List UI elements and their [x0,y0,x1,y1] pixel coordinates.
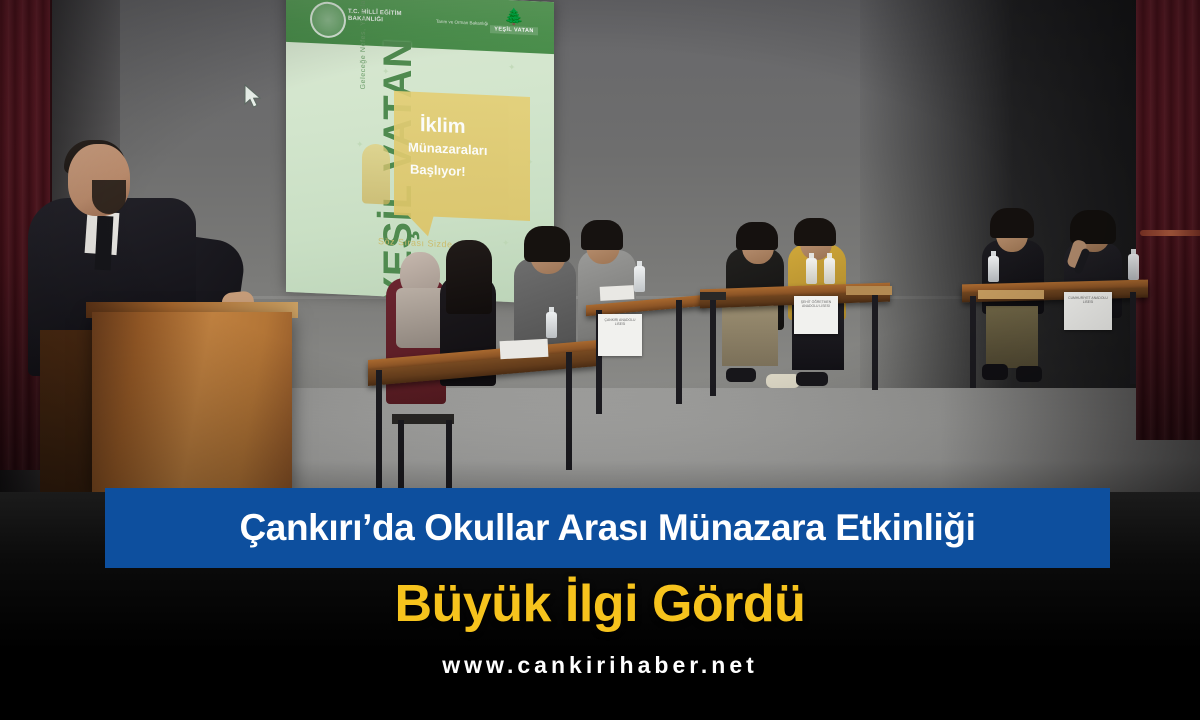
speaker-tie [95,216,114,271]
podium-side-panel [40,330,98,492]
poster-vertical-subtitle: Geleceğe Nefes, Yarınlara Yeşil Bir Vata… [360,0,367,90]
student-shoe [982,364,1008,380]
news-photo-card: T.C. MİLLÎ EĞİTİM BAKANLIĞI Tarım ve Orm… [0,0,1200,720]
student-hair [446,240,492,314]
headline-line-2: Büyük İlgi Gördü [395,575,806,633]
yesil-vatan-logo-text: YEŞİL VATAN [490,25,538,35]
water-bottle [988,256,999,282]
partner-name: Tarım ve Orman Bakanlığı [436,19,498,34]
desk-leg [566,352,572,470]
desk-leg [710,300,716,396]
desk-leg [676,300,682,404]
water-bottle [1128,254,1139,280]
water-bottle [806,258,817,284]
water-bottle [824,258,835,284]
student-hair [736,222,778,250]
student-hair [794,218,836,246]
team-name-card: ŞEHİT ÖĞRETMEN ANADOLU LİSESİ [794,296,838,334]
chair-leg [446,420,452,490]
documents [600,285,635,301]
student-hair [581,220,623,250]
stage-curtain-right [1136,0,1200,440]
desk-leg [1130,292,1136,384]
event-photograph: T.C. MİLLÎ EĞİTİM BAKANLIĞI Tarım ve Orm… [0,0,1200,492]
student-shoe [1016,366,1042,382]
microphone-illustration [362,143,390,204]
headline-secondary: Büyük İlgi Gördü [0,574,1200,634]
site-url-text: www.cankirihaber.net [442,652,758,678]
speaker-podium [92,312,292,492]
documents [500,339,549,359]
water-bottle [634,266,645,292]
headline-primary-bar: Çankırı’da Okullar Arası Münazara Etkinl… [105,488,1110,568]
team-name-card: ÇANKIRI ANADOLU LİSESİ [598,314,642,356]
bubble-line-1: İklim [420,114,466,139]
chair-seat [978,290,1044,299]
student-trousers [722,300,778,366]
student-hair [524,226,570,262]
student-shoe [766,374,800,388]
curtain-tieback [1140,230,1200,236]
desk-leg [970,296,976,388]
headline-line-1: Çankırı’da Okullar Arası Münazara Etkinl… [239,507,975,549]
student-scarf-drape [396,288,446,348]
headline-block: Çankırı’da Okullar Arası Münazara Etkinl… [0,492,1200,720]
student-trousers [986,306,1038,368]
team-name-card: CUMHURİYET ANADOLU LİSESİ [1064,292,1112,330]
chair-seat [846,286,892,295]
yesil-vatan-logo: 🌲 YEŞİL VATAN [490,9,538,45]
chair-seat [700,292,726,300]
bubble-line-3: Başlıyor! [410,162,466,180]
bubble-line-2: Münazaraları [408,139,487,158]
chair-leg [398,420,404,490]
desk-leg [872,294,878,390]
water-bottle [546,312,557,338]
student-hair [990,208,1034,238]
student-shoe [796,372,828,386]
ministry-seal-icon [310,1,346,39]
poster-speech-bubble: İklim Münazaraları Başlıyor! [394,91,530,221]
ministry-name: T.C. MİLLÎ EĞİTİM BAKANLIĞI [348,9,418,26]
site-watermark: www.cankirihaber.net [0,652,1200,679]
speaker-beard [92,180,126,214]
student-shoe [726,368,756,382]
desk-leg [376,370,382,488]
